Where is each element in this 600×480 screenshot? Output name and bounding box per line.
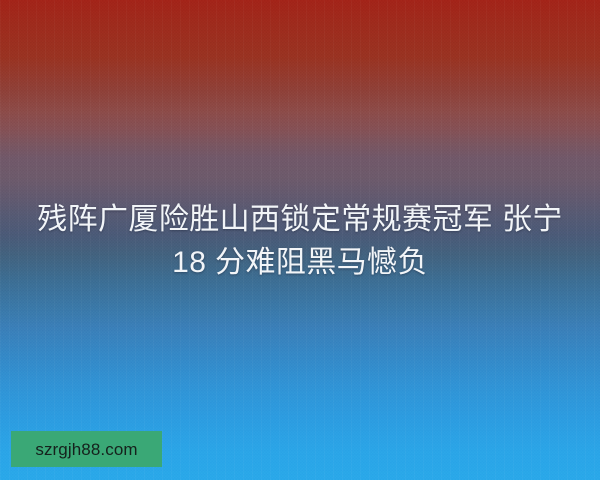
headline-text: 残阵广厦险胜山西锁定常规赛冠军 张宁 18 分难阻黑马憾负 [0,198,600,284]
headline-line-1: 残阵广厦险胜山西锁定常规赛冠军 张宁 [18,198,582,241]
headline-line-2: 18 分难阻黑马憾负 [18,241,582,284]
watermark-badge: szrgjh88.com [11,431,162,467]
watermark-url-text: szrgjh88.com [35,441,137,458]
headline-banner: 残阵广厦险胜山西锁定常规赛冠军 张宁 18 分难阻黑马憾负 szrgjh88.c… [0,0,600,480]
